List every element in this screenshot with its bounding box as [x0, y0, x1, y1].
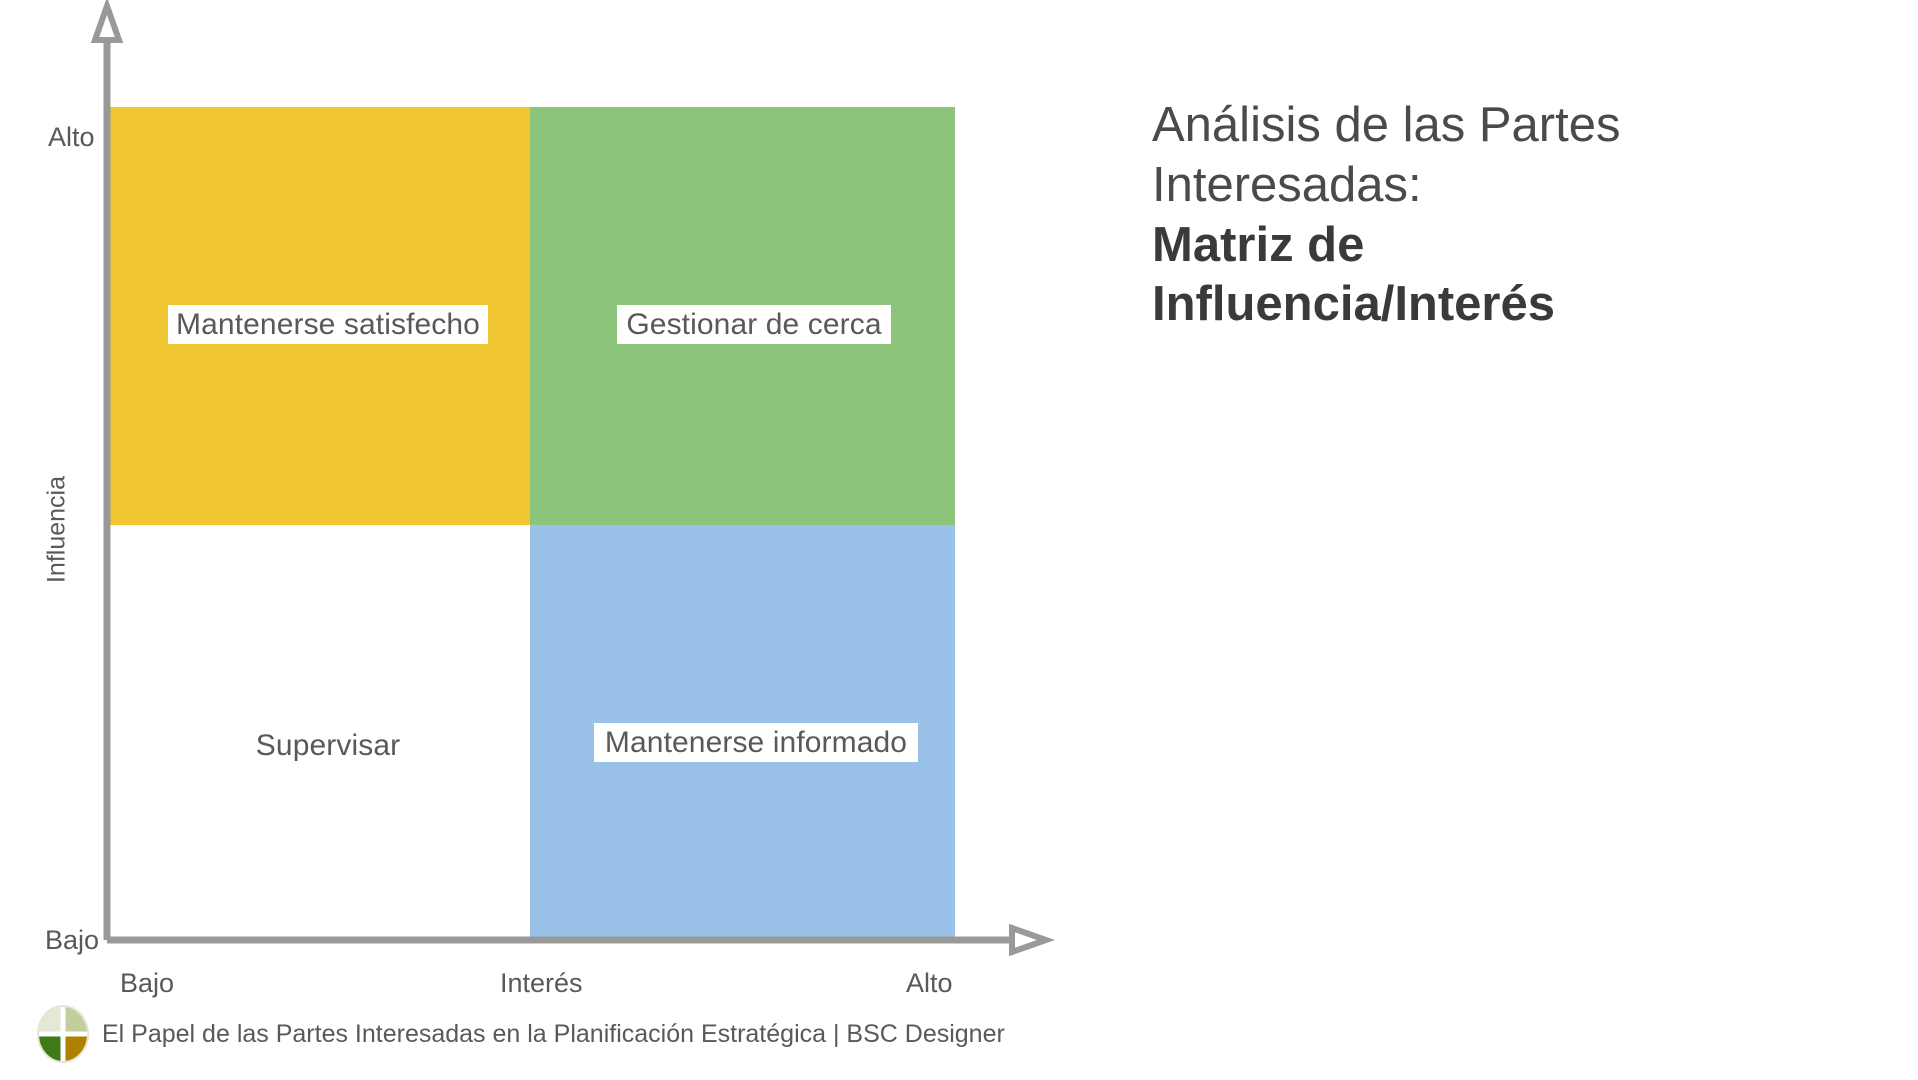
x-axis-tick-alto: Alto	[906, 968, 953, 999]
footer-caption: El Papel de las Partes Interesadas en la…	[102, 1020, 1005, 1049]
y-axis-title: Influencia	[43, 450, 72, 610]
quadrant-label-supervisar: Supervisar	[168, 726, 488, 765]
x-axis-tick-bajo: Bajo	[120, 968, 174, 999]
page-title: Análisis de las Partes Interesadas: Matr…	[1152, 96, 1852, 335]
y-axis-tick-alto: Alto	[48, 122, 95, 153]
x-axis-tick-interes: Interés	[500, 968, 583, 999]
title-line-1: Análisis de las Partes	[1152, 96, 1852, 156]
quadrant-label-mantenerse-satisfecho: Mantenerse satisfecho	[168, 305, 488, 344]
quadrant-label-gestionar-de-cerca: Gestionar de cerca	[617, 305, 891, 344]
footer: El Papel de las Partes Interesadas en la…	[36, 1004, 1005, 1064]
title-line-4: Influencia/Interés	[1152, 275, 1852, 335]
bsc-designer-logo-icon	[36, 1004, 90, 1064]
title-line-2: Interesadas:	[1152, 156, 1852, 216]
y-axis-arrowhead	[95, 6, 119, 40]
quadrant-label-mantenerse-informado: Mantenerse informado	[594, 723, 918, 762]
x-axis-arrowhead	[1012, 928, 1046, 952]
influence-interest-matrix: Mantenerse satisfecho Gestionar de cerca…	[0, 0, 1120, 1010]
y-axis-tick-bajo: Bajo	[45, 925, 99, 956]
title-line-3: Matriz de	[1152, 216, 1852, 276]
